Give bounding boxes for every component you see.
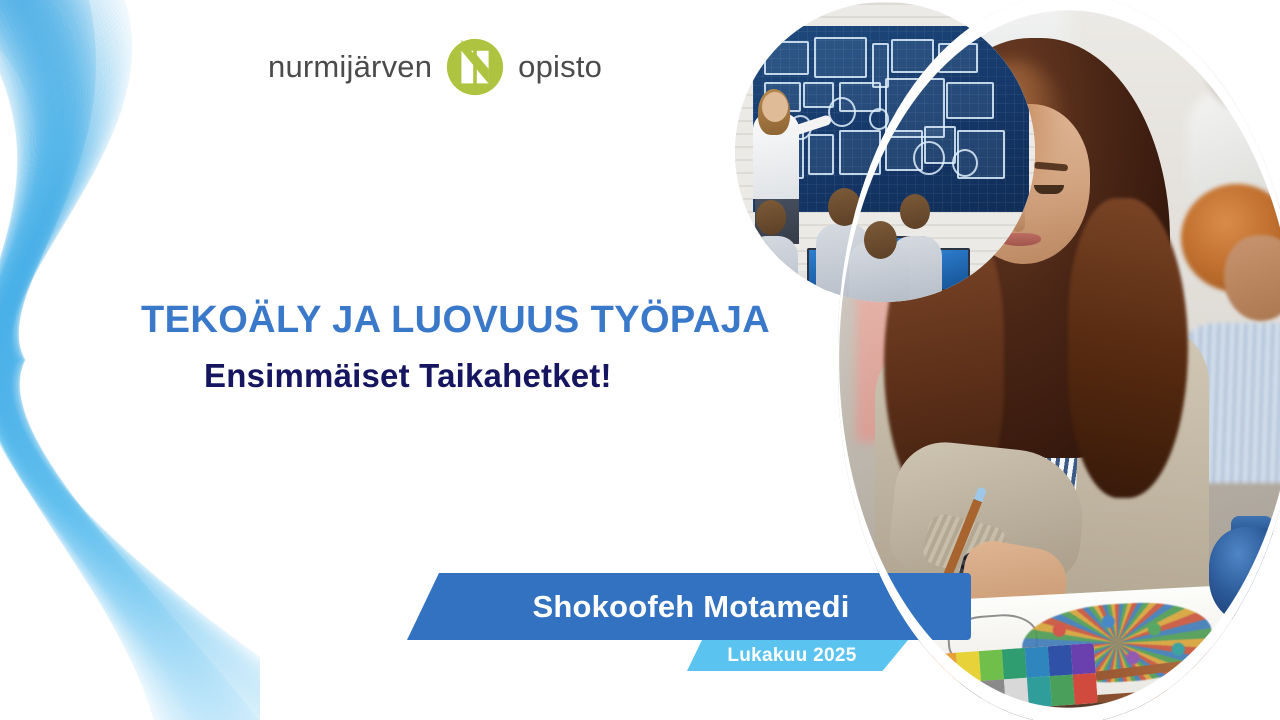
- page-title: TEKOÄLY JA LUOVUUS TYÖPAJA: [141, 299, 770, 342]
- nurmijarven-opisto-logo-mark: [446, 38, 504, 96]
- page-subtitle: Ensimmäiset Taikahetket!: [204, 357, 612, 395]
- logo-word-right: opisto: [518, 49, 602, 85]
- logo-word-left: nurmijärven: [268, 49, 432, 85]
- date-label: Lukakuu 2025: [676, 645, 908, 667]
- circle-photo-ai-classroom: [735, 2, 1035, 302]
- presentation-slide: nurmijärven opisto TEKOÄLY JA LUOVUUS TY…: [0, 0, 1280, 720]
- presenter-name-label: Shokoofeh Motamedi: [383, 589, 971, 625]
- presenter-name-banner: Shokoofeh Motamedi: [383, 573, 971, 640]
- date-banner: Lukakuu 2025: [676, 640, 908, 671]
- logo: nurmijärven opisto: [268, 38, 602, 96]
